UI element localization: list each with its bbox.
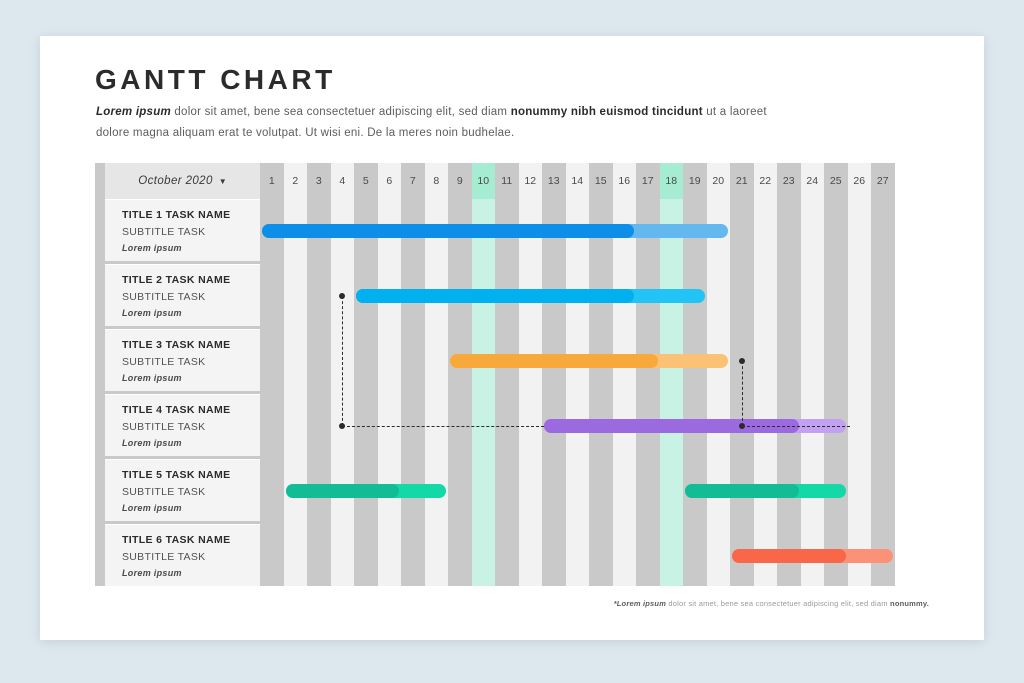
day-label-14: 14 [566,163,590,199]
task-title: TITLE 3 TASK NAME [122,339,260,351]
day-label-24: 24 [801,163,825,199]
day-label-4: 4 [331,163,355,199]
day-label-5: 5 [354,163,378,199]
month-selector[interactable]: October 2020 ▼ [105,163,260,199]
task-row-1[interactable]: TITLE 1 TASK NAME SUBTITLE TASK Lorem ip… [105,199,260,261]
dependency-line-horizontal-2 [742,426,850,427]
dependency-line-vertical-2 [742,361,743,426]
day-label-9: 9 [448,163,472,199]
dependency-line-vertical-1 [342,296,343,426]
gantt-bar-row5-2[interactable] [685,484,846,498]
page-subtitle: Lorem ipsum dolor sit amet, bene sea con… [96,102,796,145]
task-title: TITLE 4 TASK NAME [122,404,260,416]
task-title: TITLE 1 TASK NAME [122,209,260,221]
task-title: TITLE 5 TASK NAME [122,469,260,481]
day-label-11: 11 [495,163,519,199]
task-row-5[interactable]: TITLE 5 TASK NAME SUBTITLE TASK Lorem ip… [105,459,260,521]
footnote: *Lorem ipsum dolor sit amet, bene sea co… [614,599,929,608]
day-column-26[interactable]: 26 [848,163,872,586]
gantt-bar-row1-1[interactable] [262,224,728,238]
day-label-13: 13 [542,163,566,199]
gantt-chart-card: GANTT CHART Lorem ipsum dolor sit amet, … [40,36,984,640]
dependency-line-horizontal-1 [342,426,544,427]
dependency-node-2-1 [739,358,745,364]
gantt-bar-row6-1[interactable] [732,549,893,563]
day-label-3: 3 [307,163,331,199]
day-label-10: 10 [472,163,496,199]
footnote-mid: dolor sit amet, bene sea consectetuer ad… [666,599,890,608]
day-label-6: 6 [378,163,402,199]
task-subtitle: SUBTITLE TASK [122,226,260,238]
task-row-6[interactable]: TITLE 6 TASK NAME SUBTITLE TASK Lorem ip… [105,524,260,586]
task-title: TITLE 2 TASK NAME [122,274,260,286]
day-label-25: 25 [824,163,848,199]
day-label-17: 17 [636,163,660,199]
month-label: October 2020 [138,175,213,187]
gantt-bar-progress [356,289,634,303]
day-label-15: 15 [589,163,613,199]
day-label-8: 8 [425,163,449,199]
day-column-27[interactable]: 27 [871,163,895,586]
day-label-26: 26 [848,163,872,199]
page-title: GANTT CHART [95,64,336,96]
day-label-21: 21 [730,163,754,199]
day-column-23[interactable]: 23 [777,163,801,586]
task-subtitle: SUBTITLE TASK [122,551,260,563]
chevron-down-icon: ▼ [219,177,227,186]
task-note: Lorem ipsum [122,373,260,383]
task-row-4[interactable]: TITLE 4 TASK NAME SUBTITLE TASK Lorem ip… [105,394,260,456]
gantt-bar-progress [732,549,846,563]
day-label-1: 1 [260,163,284,199]
day-label-19: 19 [683,163,707,199]
task-label-column: October 2020 ▼ TITLE 1 TASK NAME SUBTITL… [95,163,260,586]
task-subtitle: SUBTITLE TASK [122,486,260,498]
day-label-7: 7 [401,163,425,199]
day-column-25[interactable]: 25 [824,163,848,586]
day-label-16: 16 [613,163,637,199]
day-label-2: 2 [284,163,308,199]
subtitle-bold: nonummy nibh euismod tincidunt [511,106,703,118]
task-row-3[interactable]: TITLE 3 TASK NAME SUBTITLE TASK Lorem ip… [105,329,260,391]
task-note: Lorem ipsum [122,568,260,578]
task-subtitle: SUBTITLE TASK [122,421,260,433]
gantt-chart: October 2020 ▼ TITLE 1 TASK NAME SUBTITL… [95,163,895,586]
gantt-grid: 1234567891011121314151617181920212223242… [260,163,895,586]
gantt-bar-progress [262,224,634,238]
task-subtitle: SUBTITLE TASK [122,291,260,303]
gantt-bar-row3-1[interactable] [450,354,728,368]
task-note: Lorem ipsum [122,308,260,318]
task-title: TITLE 6 TASK NAME [122,534,260,546]
footnote-lead: *Lorem ipsum [614,599,666,608]
dependency-node-2-2 [739,423,745,429]
gantt-bar-progress [286,484,400,498]
day-highlight-18 [660,199,684,586]
gantt-bar-row2-1[interactable] [356,289,705,303]
day-label-20: 20 [707,163,731,199]
day-column-24[interactable]: 24 [801,163,825,586]
gantt-bar-progress [685,484,799,498]
subtitle-mid: dolor sit amet, bene sea consectetuer ad… [171,106,511,118]
day-label-12: 12 [519,163,543,199]
task-note: Lorem ipsum [122,243,260,253]
day-label-18: 18 [660,163,684,199]
gantt-bar-row5-1[interactable] [286,484,447,498]
day-label-22: 22 [754,163,778,199]
task-subtitle: SUBTITLE TASK [122,356,260,368]
task-note: Lorem ipsum [122,438,260,448]
day-label-23: 23 [777,163,801,199]
day-column-22[interactable]: 22 [754,163,778,586]
footnote-bold: nonummy. [890,599,929,608]
day-highlight-10 [472,199,496,586]
task-row-2[interactable]: TITLE 2 TASK NAME SUBTITLE TASK Lorem ip… [105,264,260,326]
subtitle-lead: Lorem ipsum [96,106,171,118]
gantt-bar-progress [450,354,658,368]
day-label-27: 27 [871,163,895,199]
task-note: Lorem ipsum [122,503,260,513]
